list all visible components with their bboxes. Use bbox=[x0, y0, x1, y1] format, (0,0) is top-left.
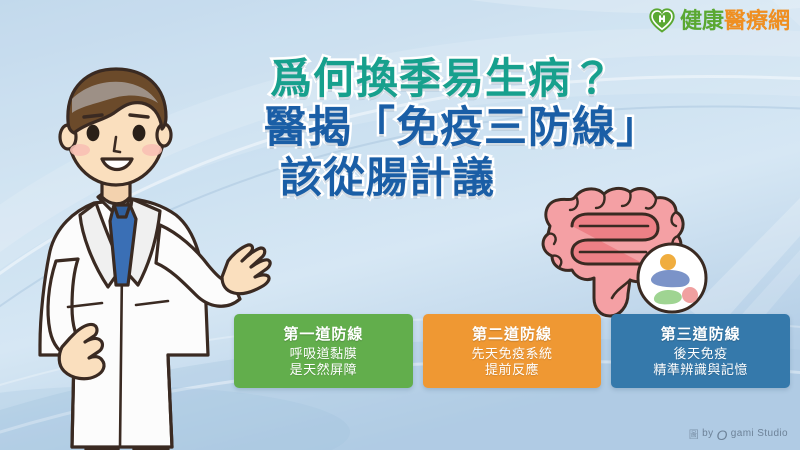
headline-block: 爲何換季易生病？ 醫揭「免疫三防線」 該從腸計議 bbox=[262, 58, 732, 200]
defense-card-third[interactable]: 第三道防線 後天免疫 精準辨識與記憶 bbox=[611, 314, 790, 388]
headline-line-2: 醫揭「免疫三防線」 bbox=[264, 107, 732, 151]
defense-line-cards: 第一道防線 呼吸道黏膜 是天然屏障 第二道防線 先天免疫系統 提前反應 第三道防… bbox=[234, 314, 790, 388]
gut-microbiome-bubble-svg bbox=[638, 244, 706, 312]
defense-card-subtitle-line1: 後天免疫 bbox=[653, 346, 748, 363]
logo-text-orange: 醫療網 bbox=[724, 8, 790, 33]
site-logo[interactable]: 健康醫療網 bbox=[649, 8, 790, 34]
defense-card-second[interactable]: 第二道防線 先天免疫系統 提前反應 bbox=[423, 314, 602, 388]
heart-h-logo-icon bbox=[649, 8, 675, 34]
defense-card-title: 第三道防線 bbox=[661, 325, 741, 345]
defense-card-subtitle: 後天免疫 精準辨識與記憶 bbox=[653, 346, 748, 379]
logo-text-green: 健康 bbox=[680, 8, 724, 33]
defense-card-title: 第二道防線 bbox=[472, 325, 552, 345]
defense-card-subtitle-line2: 精準辨識與記憶 bbox=[653, 362, 748, 379]
doctor-svg bbox=[10, 55, 280, 450]
headline-line-3: 該從腸計議 bbox=[280, 157, 732, 200]
logo-wordmark: 健康醫療網 bbox=[680, 10, 790, 32]
headline-line-1: 爲何換季易生病？ bbox=[270, 58, 732, 101]
defense-card-subtitle-line1: 先天免疫系統 bbox=[472, 346, 553, 363]
credit-studio-name: gami Studio bbox=[731, 428, 788, 439]
credit-studio-initial: O bbox=[716, 428, 727, 442]
credit-by: by bbox=[702, 428, 713, 439]
defense-card-subtitle: 呼吸道黏膜 是天然屏障 bbox=[290, 346, 358, 379]
intestine-and-microbiome bbox=[520, 182, 720, 332]
defense-card-subtitle-line2: 提前反應 bbox=[472, 362, 553, 379]
image-credit: 圖 by O gami Studio bbox=[689, 426, 788, 441]
defense-card-subtitle: 先天免疫系統 提前反應 bbox=[472, 346, 553, 379]
cartoon-doctor-illustration bbox=[10, 55, 280, 450]
defense-card-subtitle-line1: 呼吸道黏膜 bbox=[290, 346, 358, 363]
infographic-poster: 健康醫療網 bbox=[0, 0, 800, 450]
defense-card-subtitle-line2: 是天然屏障 bbox=[290, 362, 358, 379]
credit-prefix: 圖 bbox=[689, 426, 699, 441]
defense-card-first[interactable]: 第一道防線 呼吸道黏膜 是天然屏障 bbox=[234, 314, 413, 388]
defense-card-title: 第一道防線 bbox=[283, 325, 363, 345]
intestine-svg bbox=[520, 182, 720, 327]
